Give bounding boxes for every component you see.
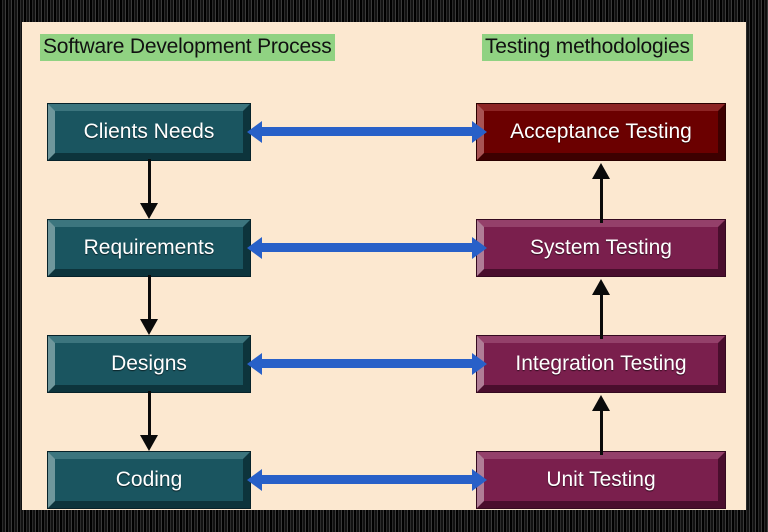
node-coding[interactable]: Coding <box>48 452 250 508</box>
link-arrow-row2-right-head <box>472 237 487 259</box>
node-requirements[interactable]: Requirements <box>48 220 250 276</box>
heading-software-development-process: Software Development Process <box>40 34 335 61</box>
node-system-testing[interactable]: System Testing <box>477 220 725 276</box>
node-unit-testing-label: Unit Testing <box>546 468 655 492</box>
flow-arrow-system-to-acceptance-head <box>592 163 610 179</box>
link-arrow-row1-bar <box>261 127 473 136</box>
node-system-testing-label: System Testing <box>530 236 672 260</box>
link-arrow-row4-bar <box>261 475 473 484</box>
link-arrow-row2-bar <box>261 243 473 252</box>
link-arrow-row4-right-head <box>472 469 487 491</box>
heading-testing-methodologies: Testing methodologies <box>482 34 693 61</box>
flow-arrow-requirements-to-designs-line <box>148 275 151 321</box>
node-clients-needs[interactable]: Clients Needs <box>48 104 250 160</box>
diagram-canvas: Software Development Process Testing met… <box>22 22 746 510</box>
node-requirements-label: Requirements <box>84 236 215 260</box>
node-clients-needs-label: Clients Needs <box>84 120 215 144</box>
link-arrow-row1-right-head <box>472 121 487 143</box>
flow-arrow-clients-to-requirements-head <box>140 203 158 219</box>
flow-arrow-clients-to-requirements-line <box>148 159 151 205</box>
image-frame: Software Development Process Testing met… <box>0 0 768 532</box>
node-acceptance-testing-label: Acceptance Testing <box>510 120 692 144</box>
flow-arrow-integration-to-system-head <box>592 279 610 295</box>
link-arrow-row2-left-head <box>247 237 262 259</box>
node-acceptance-testing[interactable]: Acceptance Testing <box>477 104 725 160</box>
flow-arrow-designs-to-coding-head <box>140 435 158 451</box>
link-arrow-row1-left-head <box>247 121 262 143</box>
link-arrow-row3-left-head <box>247 353 262 375</box>
flow-arrow-unit-to-integration-head <box>592 395 610 411</box>
link-arrow-row3-bar <box>261 359 473 368</box>
flow-arrow-unit-to-integration-line <box>600 409 603 455</box>
flow-arrow-system-to-acceptance-line <box>600 177 603 223</box>
flow-arrow-requirements-to-designs-head <box>140 319 158 335</box>
flow-arrow-integration-to-system-line <box>600 293 603 339</box>
node-integration-testing-label: Integration Testing <box>515 352 686 376</box>
link-arrow-row3-right-head <box>472 353 487 375</box>
node-unit-testing[interactable]: Unit Testing <box>477 452 725 508</box>
node-integration-testing[interactable]: Integration Testing <box>477 336 725 392</box>
node-designs-label: Designs <box>111 352 187 376</box>
flow-arrow-designs-to-coding-line <box>148 391 151 437</box>
node-coding-label: Coding <box>116 468 183 492</box>
node-designs[interactable]: Designs <box>48 336 250 392</box>
link-arrow-row4-left-head <box>247 469 262 491</box>
